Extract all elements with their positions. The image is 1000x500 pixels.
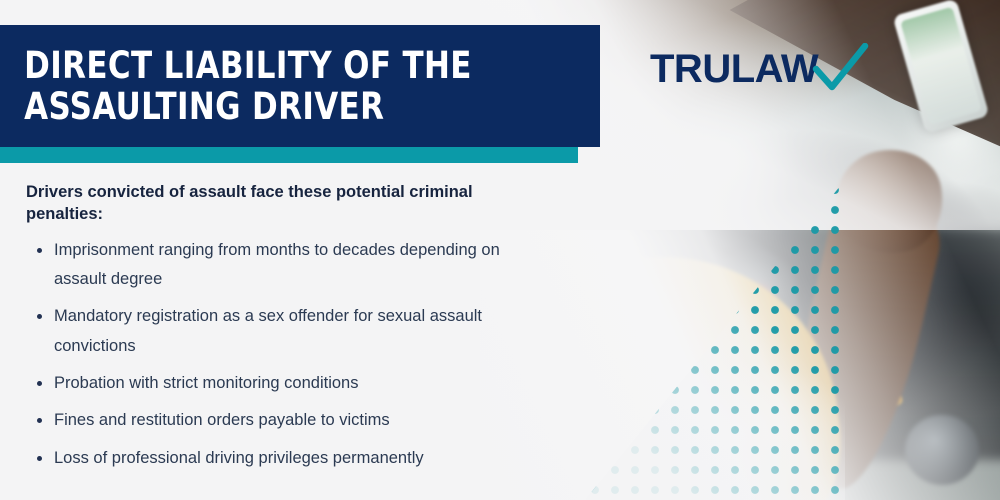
trulaw-logo[interactable]: TRULAW — [650, 42, 870, 96]
list-item: Mandatory registration as a sex offender… — [26, 302, 526, 361]
brand-wordmark: TRULAW — [650, 49, 818, 89]
checkmark-icon — [812, 43, 870, 95]
lede-paragraph: Drivers convicted of assault face these … — [26, 182, 496, 226]
list-item: Probation with strict monitoring conditi… — [26, 369, 526, 398]
infographic-card: DIRECT LIABILITY OF THE ASSAULTING DRIVE… — [0, 0, 1000, 500]
penalties-content: Drivers convicted of assault face these … — [26, 182, 526, 481]
title-accent-bar — [0, 147, 578, 163]
page-title: DIRECT LIABILITY OF THE ASSAULTING DRIVE… — [0, 45, 494, 128]
list-item: Imprisonment ranging from months to deca… — [26, 236, 526, 295]
title-banner: DIRECT LIABILITY OF THE ASSAULTING DRIVE… — [0, 25, 600, 147]
penalties-list: Imprisonment ranging from months to deca… — [26, 236, 526, 474]
list-item: Loss of professional driving privileges … — [26, 444, 526, 473]
list-item: Fines and restitution orders payable to … — [26, 406, 526, 435]
